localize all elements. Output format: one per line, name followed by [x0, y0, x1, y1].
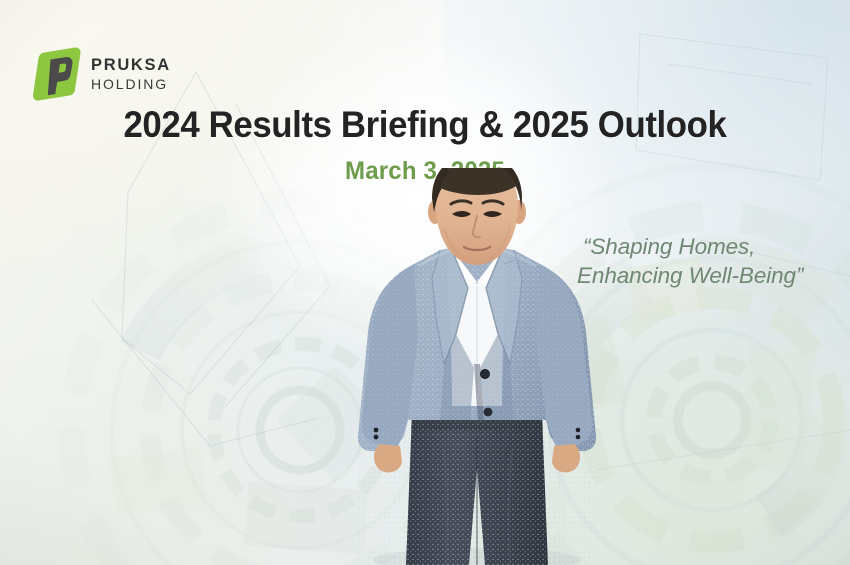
- pruksa-holding-logo: PRUKSA HOLDING: [30, 46, 171, 102]
- event-photo-canvas: PRUKSA HOLDING 2024 Results Briefing & 2…: [0, 0, 850, 565]
- logo-text-pruksa: PRUKSA: [91, 57, 171, 74]
- pruksa-p-monogram-icon: [30, 46, 82, 102]
- tagline-line-1: “Shaping Homes,: [583, 234, 755, 259]
- company-tagline: “Shaping Homes, Enhancing Well-Being”: [583, 233, 841, 291]
- speaker-photo: [352, 168, 602, 565]
- event-title: 2024 Results Briefing & 2025 Outlook: [26, 104, 825, 146]
- speaker-figure: [352, 168, 602, 565]
- logo-text-holding: HOLDING: [91, 77, 171, 91]
- tagline-line-2: Enhancing Well-Being”: [577, 262, 841, 291]
